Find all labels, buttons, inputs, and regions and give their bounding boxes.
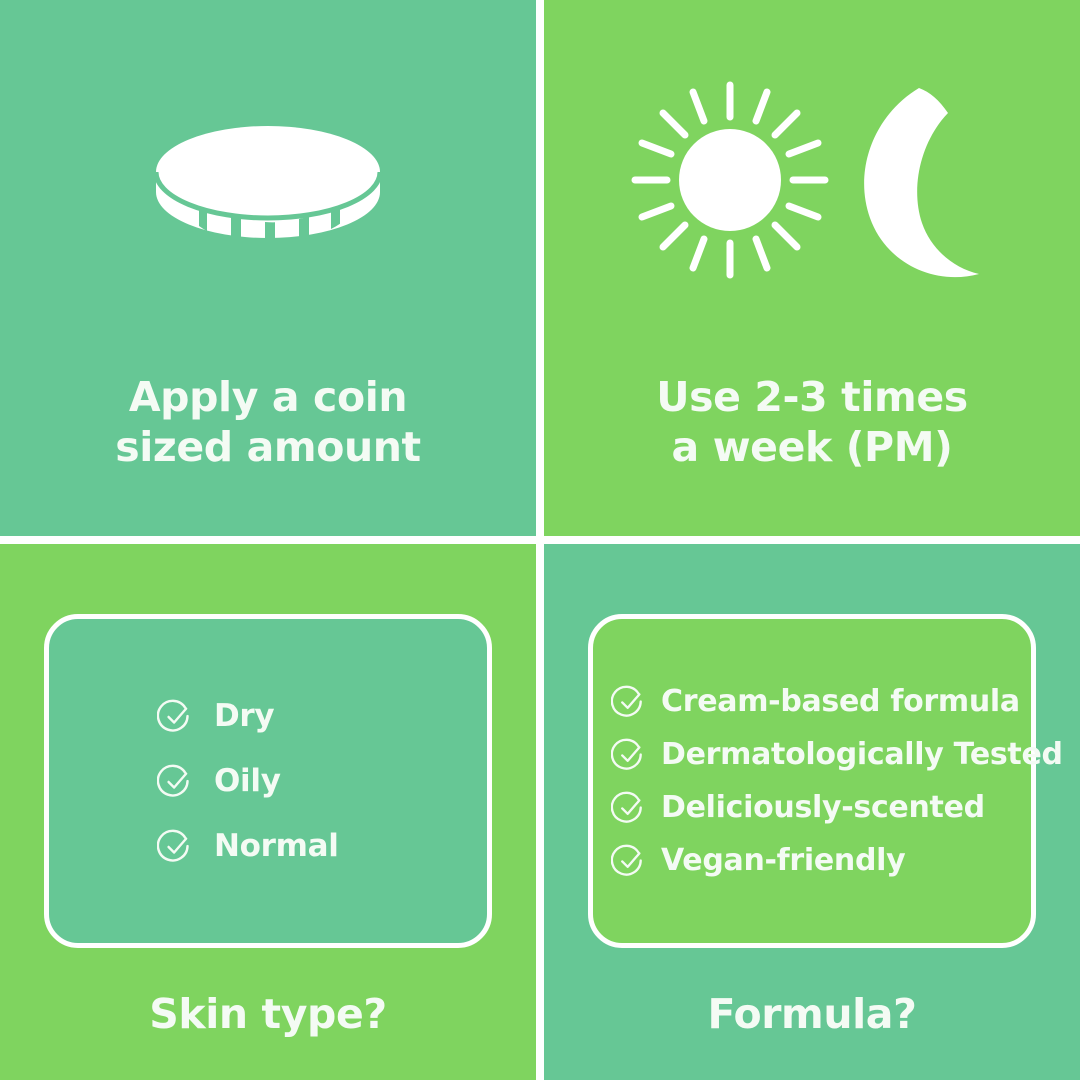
skin-type-list: Dry Oily	[49, 698, 487, 865]
panel-frequency-caption: Use 2-3 times a week (PM)	[544, 372, 1080, 472]
list-item-label: Normal	[214, 828, 339, 864]
check-circle-icon	[157, 698, 194, 735]
crescent-moon-icon	[864, 88, 979, 277]
infographic-grid: Apply a coin sized amount	[0, 0, 1080, 1080]
check-circle-icon	[611, 790, 647, 826]
sun-icon	[635, 85, 825, 275]
check-circle-icon	[611, 684, 647, 720]
panel-skin-type: Dry Oily	[0, 544, 536, 1080]
check-circle-icon	[157, 763, 194, 800]
caption-line-2: a week (PM)	[544, 422, 1080, 472]
formula-list: Cream-based formula Dermatologically Tes…	[593, 684, 1031, 879]
list-item-label: Cream-based formula	[661, 684, 1020, 719]
panel-apply-caption: Apply a coin sized amount	[0, 372, 536, 472]
list-item-label: Dermatologically Tested	[661, 737, 1063, 772]
list-item[interactable]: Cream-based formula	[611, 684, 1031, 720]
panel-frequency: Use 2-3 times a week (PM)	[544, 0, 1080, 536]
list-item[interactable]: Dermatologically Tested	[611, 737, 1031, 773]
check-circle-icon	[611, 843, 647, 879]
caption-line-1: Apply a coin	[0, 372, 536, 422]
list-item[interactable]: Dry	[157, 698, 487, 735]
formula-card: Cream-based formula Dermatologically Tes…	[588, 614, 1036, 948]
caption-line-1: Use 2-3 times	[544, 372, 1080, 422]
sun-moon-icon-stage	[544, 0, 1080, 360]
caption-line-2: sized amount	[0, 422, 536, 472]
coin-icon	[152, 110, 384, 250]
list-item[interactable]: Vegan-friendly	[611, 843, 1031, 879]
list-item-label: Deliciously-scented	[661, 790, 985, 825]
skin-type-card: Dry Oily	[44, 614, 492, 948]
panel-formula-caption: Formula?	[544, 990, 1080, 1038]
list-item-label: Oily	[214, 763, 281, 799]
list-item[interactable]: Deliciously-scented	[611, 790, 1031, 826]
panel-apply-amount: Apply a coin sized amount	[0, 0, 536, 536]
list-item[interactable]: Normal	[157, 828, 487, 865]
panel-formula: Cream-based formula Dermatologically Tes…	[544, 544, 1080, 1080]
list-item[interactable]: Oily	[157, 763, 487, 800]
check-circle-icon	[157, 828, 194, 865]
coin-icon-stage	[0, 0, 536, 360]
list-item-label: Vegan-friendly	[661, 843, 905, 878]
panel-skin-type-caption: Skin type?	[0, 990, 536, 1038]
check-circle-icon	[611, 737, 647, 773]
list-item-label: Dry	[214, 698, 274, 734]
